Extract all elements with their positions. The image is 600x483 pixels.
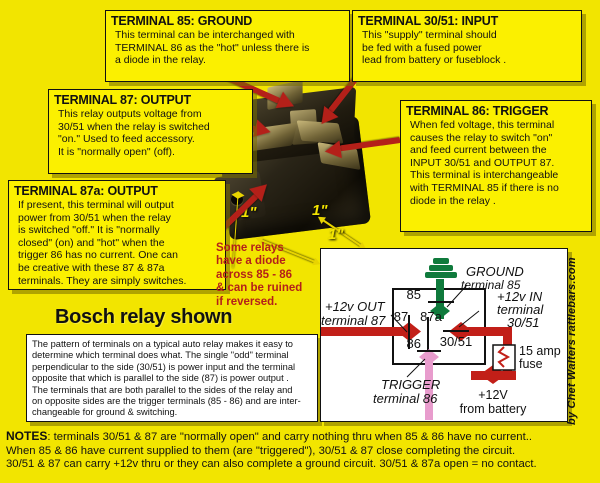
notes-label: NOTES [6, 429, 47, 443]
callout-line: terminals. They are simply switches. [18, 275, 220, 288]
callout-line: and feed current between the [410, 144, 586, 157]
callout-line: This relay outputs voltage from [58, 108, 247, 121]
callout-title: TERMINAL 85: GROUND [111, 14, 344, 28]
callout-line: This terminal is interchangeable [410, 169, 586, 182]
svg-text:87: 87 [394, 309, 408, 324]
callout-line: with TERMINAL 85 if there is no [410, 182, 586, 195]
leader-86 [407, 359, 425, 377]
explanation-box: The pattern of terminals on a typical au… [26, 334, 318, 422]
svg-text:87a: 87a [420, 309, 442, 324]
svg-text:terminal 86: terminal 86 [373, 391, 438, 406]
callout-line: When fed voltage, this terminal [410, 119, 586, 132]
callout-terminal-87a: TERMINAL 87a: OUTPUT If present, this te… [8, 180, 226, 290]
explanation-line: The terminals that are both parallel to … [32, 385, 312, 396]
leader-30-51 [459, 311, 479, 327]
callout-line: power from 30/51 when the relay [18, 212, 220, 225]
svg-text:+12v OUT: +12v OUT [325, 299, 386, 314]
svg-text:from battery: from battery [460, 402, 527, 416]
dimension-label-width: 1" [328, 226, 343, 243]
callout-body: When fed voltage, this terminal causes t… [406, 119, 586, 207]
callout-line: This "supply" terminal should [362, 29, 576, 42]
callout-line: INPUT 30/51 and OUTPUT 87. [410, 157, 586, 170]
notes-line: 30/51 & 87 can carry +12v thru or they c… [6, 458, 596, 472]
svg-text:30/51: 30/51 [440, 334, 473, 349]
warning-line: have a diode [216, 255, 324, 268]
svg-text:GROUND: GROUND [466, 264, 524, 279]
callout-terminal-87: TERMINAL 87: OUTPUT This relay outputs v… [48, 89, 253, 174]
explanation-line: perpendicular to the side (30/51) is pow… [32, 362, 312, 373]
callout-line: It is "normally open" (off). [58, 146, 247, 159]
callout-title: TERMINAL 30/51: INPUT [358, 14, 576, 28]
callout-line: a diode in the relay. [115, 54, 344, 67]
callout-title: TERMINAL 86: TRIGGER [406, 104, 586, 118]
callout-terminal-30-51: TERMINAL 30/51: INPUT This "supply" term… [352, 10, 582, 82]
svg-text:fuse: fuse [519, 357, 543, 371]
warning-line: & can be ruined [216, 282, 324, 295]
explanation-line: on opposite sides are the trigger termin… [32, 396, 312, 407]
diode-warning-text: Some relays have a diode across 85 - 86 … [216, 242, 324, 309]
callout-line: TERMINAL 86 as the "hot" unless there is [115, 42, 344, 55]
callout-line: diode in the relay . [410, 195, 586, 208]
callout-line: be fed with a fused power [362, 42, 576, 55]
fuse-symbol [493, 345, 515, 370]
callout-title: TERMINAL 87: OUTPUT [54, 93, 247, 107]
callout-body: This relay outputs voltage from 30/51 wh… [54, 108, 247, 158]
notes-line: : terminals 30/51 & 87 are "normally ope… [47, 431, 532, 443]
relay-diagram-page: 1" 1" 1" TERMINAL 85: GROUND This termin… [0, 0, 600, 483]
photo-caption: Bosch relay shown [55, 306, 232, 329]
callout-terminal-85: TERMINAL 85: GROUND This terminal can be… [105, 10, 350, 82]
callout-line: closed" (on) and "hot" when the [18, 237, 220, 250]
svg-text:30/51: 30/51 [507, 315, 540, 330]
callout-line: be creative with these 87 & 87a [18, 262, 220, 275]
svg-text:86: 86 [407, 336, 421, 351]
callout-terminal-86: TERMINAL 86: TRIGGER When fed voltage, t… [400, 100, 592, 232]
svg-text:terminal 87: terminal 87 [321, 313, 386, 328]
callout-body: If present, this terminal will output po… [14, 199, 220, 287]
explanation-line: The pattern of terminals on a typical au… [32, 339, 312, 350]
warning-line: across 85 - 86 [216, 269, 324, 282]
explanation-line: changeable for ground & switching. [32, 407, 312, 418]
svg-text:85: 85 [407, 287, 421, 302]
callout-title: TERMINAL 87a: OUTPUT [14, 184, 220, 198]
explanation-line: opposite that which is parallel to the s… [32, 373, 312, 384]
notes-line: When 85 & 86 have current supplied to th… [6, 445, 596, 459]
callout-line: lead from battery or fuseblock . [362, 54, 576, 67]
explanation-line: determine which terminal does what. The … [32, 350, 312, 361]
callout-line: If present, this terminal will output [18, 199, 220, 212]
warning-line: if reversed. [216, 296, 324, 309]
warning-line: Some relays [216, 242, 324, 255]
svg-text:TRIGGER: TRIGGER [381, 377, 440, 392]
author-credit: by Chet Walters rattlebars.com [566, 250, 588, 425]
svg-text:15 amp: 15 amp [519, 344, 561, 358]
callout-line: This terminal can be interchanged with [115, 29, 344, 42]
notes-block: NOTES: terminals 30/51 & 87 are "normall… [6, 430, 596, 472]
callout-line: is switched "off." It is "normally [18, 224, 220, 237]
notes-first-line: NOTES: terminals 30/51 & 87 are "normall… [6, 430, 596, 445]
callout-line: trigger 86 has no current. One can [18, 249, 220, 262]
callout-body: This "supply" terminal should be fed wit… [358, 29, 576, 67]
callout-line: 30/51 when the relay is switched [58, 121, 247, 134]
svg-text:+12V: +12V [478, 388, 508, 402]
callout-line: causes the relay to switch "on" [410, 132, 586, 145]
callout-body: This terminal can be interchanged with T… [111, 29, 344, 67]
relay-schematic-diagram: 85 87 87a 86 30/51 GROUND terminal 85 +1… [320, 248, 568, 422]
callout-line: "on." Used to feed accessory. [58, 133, 247, 146]
